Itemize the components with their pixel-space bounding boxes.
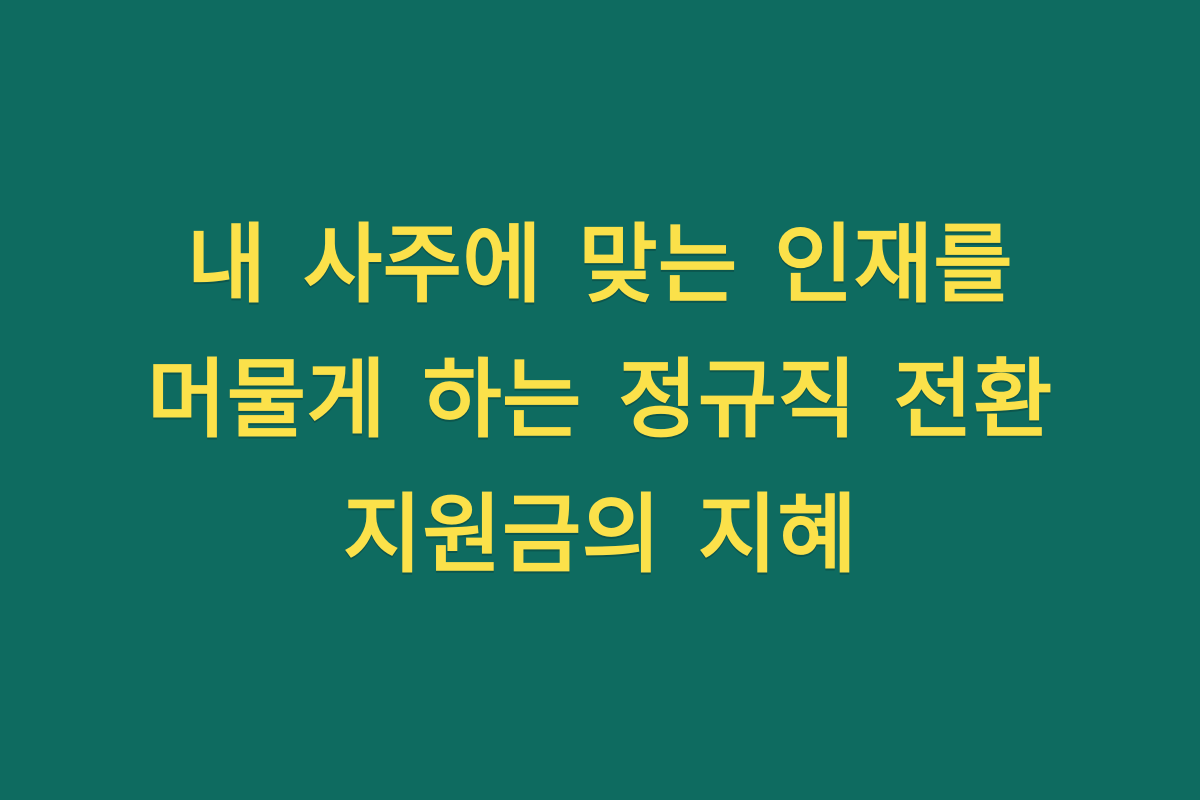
headline-line-1: 내 사주에 맞는 인재를	[40, 198, 1160, 333]
headline-line-3: 지원금의 지혜	[40, 468, 1160, 603]
title-card: 내 사주에 맞는 인재를 머물게 하는 정규직 전환 지원금의 지혜	[0, 0, 1200, 800]
headline-line-2: 머물게 하는 정규직 전환	[40, 333, 1160, 468]
headline-text-block: 내 사주에 맞는 인재를 머물게 하는 정규직 전환 지원금의 지혜	[40, 198, 1160, 603]
